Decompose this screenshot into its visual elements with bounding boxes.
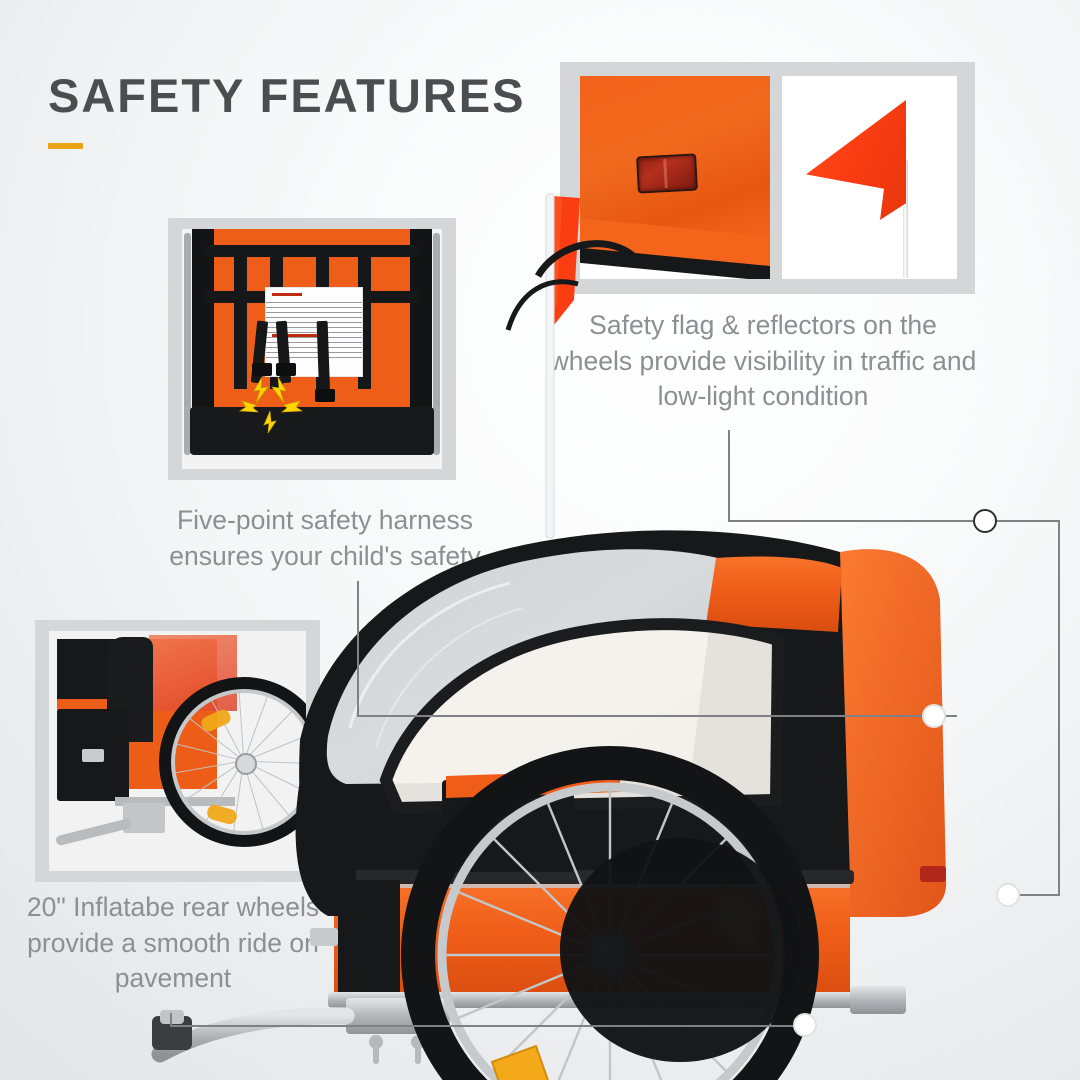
hitch-coupler [152,1010,192,1050]
front-pocket [338,880,400,998]
main-product-photo [150,180,1080,1080]
leader-harness-vertical [357,581,359,716]
leader-flag-bracket-top [995,520,1060,522]
marker-harness [922,704,946,728]
tow-arm [55,818,133,847]
infographic-canvas: SAFETY FEATURES Safety flag & reflectors… [0,0,1080,1080]
marker-reflector [996,883,1020,907]
leader-flag-bracket-right [1058,520,1060,896]
title-accent-rule [48,143,83,149]
leader-flag-bracket-bottom [1018,894,1060,896]
marker-flag-top [973,509,997,533]
rear-reflector [920,866,946,882]
side-clip [310,928,338,946]
canopy-hood [706,556,842,632]
page-title: SAFETY FEATURES [48,68,525,123]
leader-wheel-horizontal [170,1025,810,1027]
leader-harness-horizontal [357,715,957,717]
spoke-reflector-lower [492,1046,550,1080]
leader-flag-horizontal [728,520,978,522]
marker-wheel [793,1013,817,1037]
pocket-clip [82,749,104,762]
leader-flag-vertical [728,430,730,522]
rear-body-panel [838,549,946,917]
